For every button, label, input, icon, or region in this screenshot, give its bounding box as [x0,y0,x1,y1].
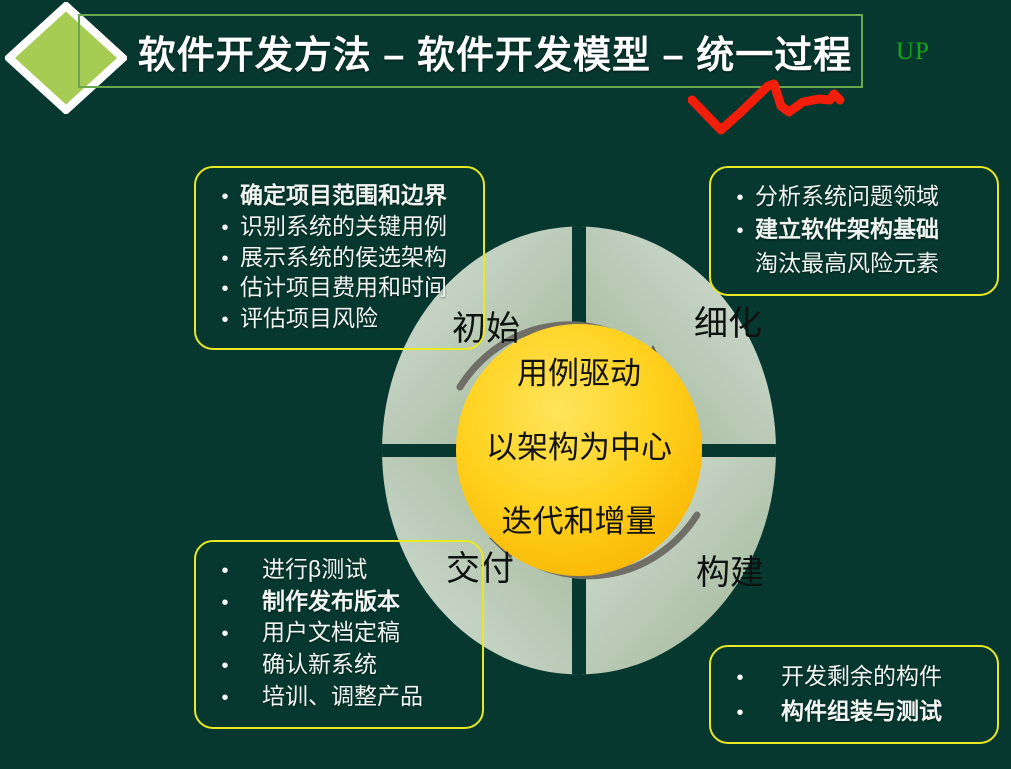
bullet-dot-icon: • [210,561,240,581]
core-line-0: 用例驱动 [517,356,641,391]
callout-transition: •进行β测试•制作发布版本•用户文档定稿•确认新系统•培训、调整产品 [194,540,484,729]
callout-elaboration: •分析系统问题领域•建立软件架构基础•淘汰最高风险元素 [709,166,999,296]
phase-label-elaboration: 细化 [694,296,762,345]
list-item-label: 构件组装与测试 [755,694,942,729]
callout-transition-list: •进行β测试•制作发布版本•用户文档定稿•确认新系统•培训、调整产品 [210,554,468,713]
bullet-dot-icon: • [725,703,755,723]
list-item-label: 展示系统的侯选架构 [240,242,447,273]
up-corner-mark: UP [896,38,930,66]
list-item: •确定项目范围和边界 [210,180,469,211]
list-item: •评估项目风险 [210,303,469,334]
bullet-dot-icon: • [725,221,755,241]
core-line-2: 迭代和增量 [502,504,657,539]
list-item-label: 估计项目费用和时间 [240,272,447,303]
list-item: •制作发布版本 [210,586,468,618]
bullet-dot-icon: • [210,279,240,299]
phase-label-construction: 构建 [696,545,764,594]
callout-construction-list: •开发剩余的构件•构件组装与测试 [725,659,983,728]
bullet-dot-icon: • [210,218,240,238]
bullet-dot-icon: • [210,688,240,708]
bullet-dot-icon: • [210,624,240,644]
list-item: •确认新系统 [210,649,468,681]
list-item-label: 淘汰最高风险元素 [755,247,939,280]
list-item: •分析系统问题领域 [725,180,983,213]
list-item-label: 确定项目范围和边界 [240,180,447,211]
list-item: •估计项目费用和时间 [210,272,469,303]
list-item: •开发剩余的构件 [725,659,983,694]
slide-canvas: 软件开发方法 – 软件开发模型 – 统一过程 UP [0,0,1011,769]
callout-construction: •开发剩余的构件•构件组装与测试 [709,645,999,744]
list-item-label: 制作发布版本 [240,586,400,618]
list-item-label: 确认新系统 [240,649,377,681]
bullet-dot-icon: • [210,593,240,613]
list-item: •识别系统的关键用例 [210,211,469,242]
core-line-1: 以架构为中心 [486,430,672,465]
callout-elaboration-list: •分析系统问题领域•建立软件架构基础•淘汰最高风险元素 [725,180,983,280]
list-item: •展示系统的侯选架构 [210,242,469,273]
page-title: 软件开发方法 – 软件开发模型 – 统一过程 [130,20,860,82]
list-item-label: 评估项目风险 [240,303,378,334]
list-item: •建立软件架构基础 [725,213,983,246]
list-item-label: 用户文档定稿 [240,617,400,649]
list-item: •构件组装与测试 [725,694,983,729]
callout-inception-list: •确定项目范围和边界•识别系统的关键用例•展示系统的侯选架构•估计项目费用和时间… [210,180,469,334]
bullet-dot-icon: • [210,310,240,330]
list-item: •用户文档定稿 [210,617,468,649]
bullet-dot-icon: • [210,249,240,269]
list-item-label: 开发剩余的构件 [755,659,942,694]
bullet-dot-icon: • [210,187,240,207]
list-item-label: 识别系统的关键用例 [240,211,447,242]
bullet-dot-icon: • [725,668,755,688]
callout-inception: •确定项目范围和边界•识别系统的关键用例•展示系统的侯选架构•估计项目费用和时间… [194,166,485,350]
list-item-label: 进行β测试 [240,554,367,586]
list-item-label: 建立软件架构基础 [755,213,939,246]
list-item-label: 分析系统问题领域 [755,180,939,213]
bullet-dot-icon: • [725,188,755,208]
list-item: •淘汰最高风险元素 [725,247,983,280]
list-item-label: 培训、调整产品 [240,681,423,713]
list-item: •培训、调整产品 [210,681,468,713]
bullet-dot-icon: • [210,656,240,676]
list-item: •进行β测试 [210,554,468,586]
